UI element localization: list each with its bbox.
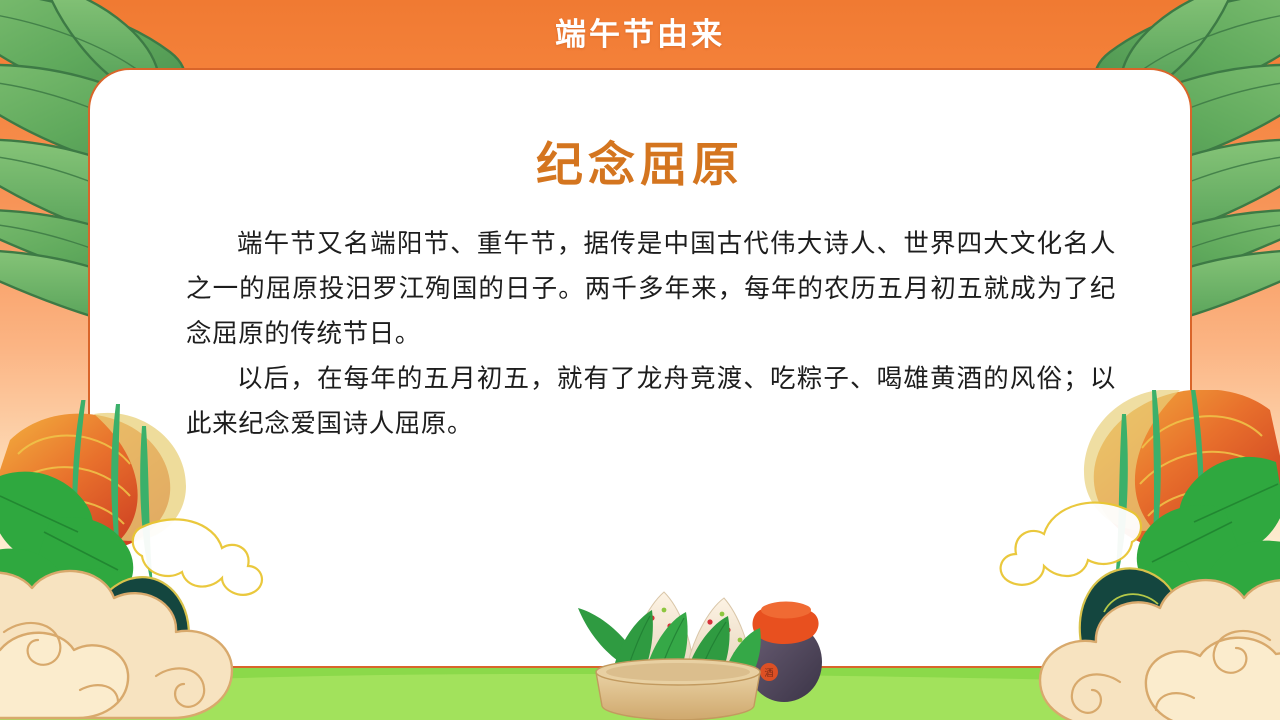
page-title: 端午节由来 (555, 19, 725, 50)
hill-band-light (0, 674, 1280, 720)
bamboo-basket (596, 659, 760, 720)
section-heading: 纪念屈原 (0, 126, 1280, 195)
paragraph-2: 以后，在每年的五月初五，就有了龙舟竞渡、吃粽子、喝雄黄酒的风俗；以此来纪念爱国诗… (186, 357, 1116, 447)
svg-text:酒: 酒 (764, 668, 773, 678)
body-text: 端午节又名端阳节、重午节，据传是中国古代伟大诗人、世界四大文化名人之一的屈原投汨… (186, 222, 1116, 447)
paragraph-1: 端午节又名端阳节、重午节，据传是中国古代伟大诗人、世界四大文化名人之一的屈原投汨… (186, 222, 1116, 357)
title-bar: 端午节由来 (0, 0, 1280, 68)
slide-root: 端午节由来 纪念屈原 端午节又名端阳节、重午节，据传是中国古代伟大诗人、世界四大… (0, 0, 1280, 720)
